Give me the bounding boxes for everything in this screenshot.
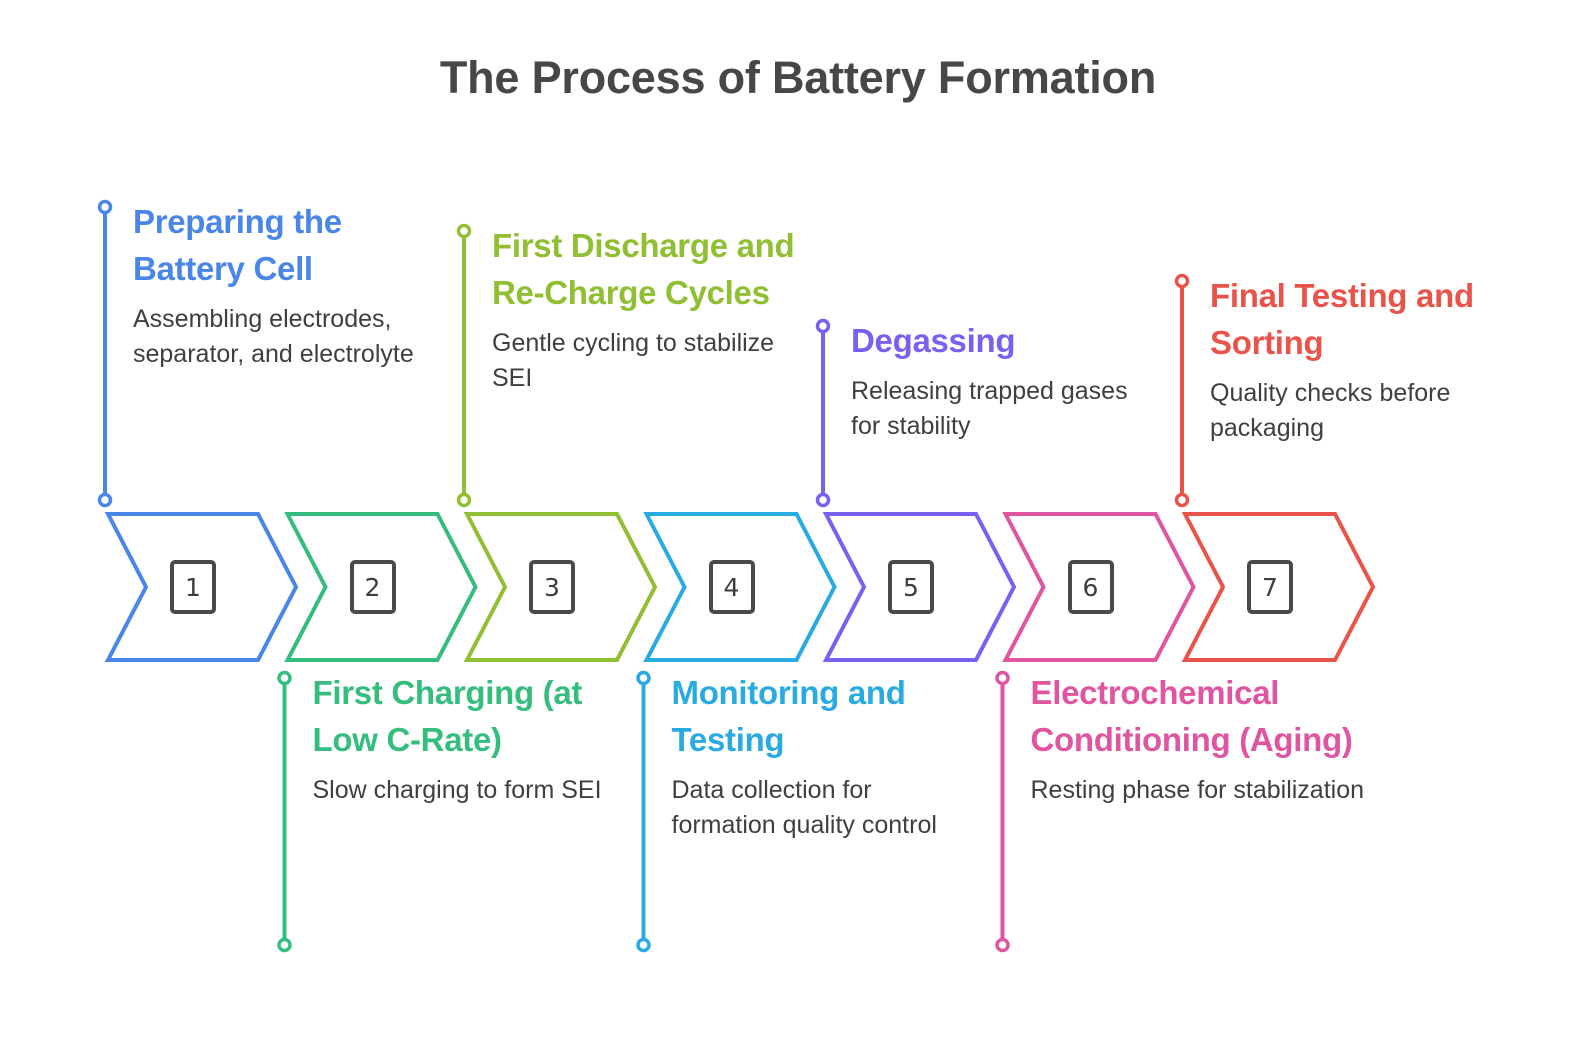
step-number-6: 6 [1083, 573, 1099, 602]
step-number-box-1: 1 [170, 560, 216, 614]
step-title-4: Monitoring and Testing [672, 670, 972, 764]
step-number-4: 4 [724, 573, 740, 602]
step-number-1: 1 [185, 573, 201, 602]
step-description-4: Data collection for formation quality co… [672, 773, 972, 843]
step-title-2: First Charging (at Low C-Rate) [313, 670, 613, 764]
step-title-1: Preparing the Battery Cell [133, 199, 423, 293]
step-number-2: 2 [365, 573, 381, 602]
step-label-2: First Charging (at Low C-Rate)Slow charg… [313, 670, 613, 808]
step-label-4: Monitoring and TestingData collection fo… [672, 670, 972, 843]
connector-endpoint-end-step-4 [638, 940, 649, 951]
step-number-box-2: 2 [350, 560, 396, 614]
step-label-3: First Discharge and Re-Charge CyclesGent… [492, 223, 802, 396]
step-description-2: Slow charging to form SEI [313, 773, 613, 808]
step-number-box-6: 6 [1068, 560, 1114, 614]
connector-endpoint-end-step-5 [818, 495, 829, 506]
chevron-arrows [0, 0, 1596, 1040]
step-title-7: Final Testing and Sorting [1210, 273, 1500, 367]
step-description-7: Quality checks before packaging [1210, 376, 1500, 446]
step-number-box-5: 5 [888, 560, 934, 614]
step-label-5: DegassingReleasing trapped gases for sta… [851, 318, 1141, 444]
connector-endpoint-end-step-3 [459, 495, 470, 506]
step-label-6: Electrochemical Conditioning (Aging)Rest… [1031, 670, 1371, 808]
step-description-6: Resting phase for stabilization [1031, 773, 1371, 808]
step-description-5: Releasing trapped gases for stability [851, 374, 1141, 444]
step-number-box-3: 3 [529, 560, 575, 614]
step-number-3: 3 [544, 573, 560, 602]
step-number-7: 7 [1262, 573, 1278, 602]
step-label-1: Preparing the Battery CellAssembling ele… [133, 199, 423, 372]
step-description-3: Gentle cycling to stabilize SEI [492, 326, 802, 396]
step-title-3: First Discharge and Re-Charge Cycles [492, 223, 802, 317]
connector-endpoint-end-step-7 [1177, 495, 1188, 506]
step-label-7: Final Testing and SortingQuality checks … [1210, 273, 1500, 446]
step-number-box-7: 7 [1247, 560, 1293, 614]
connector-endpoint-start-step-7 [1177, 276, 1188, 287]
page-title: The Process of Battery Formation [0, 52, 1596, 104]
step-number-box-4: 4 [709, 560, 755, 614]
step-title-6: Electrochemical Conditioning (Aging) [1031, 670, 1371, 764]
step-title-5: Degassing [851, 318, 1141, 365]
connector-endpoint-end-step-2 [279, 940, 290, 951]
infographic-canvas: The Process of Battery Formation 1234567… [0, 0, 1596, 1040]
connector-endpoint-start-step-1 [100, 202, 111, 213]
connector-endpoint-start-step-5 [818, 321, 829, 332]
connector-endpoint-start-step-3 [459, 226, 470, 237]
step-number-5: 5 [903, 573, 919, 602]
connector-endpoint-end-step-1 [100, 495, 111, 506]
connector-endpoint-start-step-2 [279, 673, 290, 684]
connector-endpoint-end-step-6 [997, 940, 1008, 951]
connector-endpoint-start-step-4 [638, 673, 649, 684]
connector-endpoint-start-step-6 [997, 673, 1008, 684]
step-description-1: Assembling electrodes, separator, and el… [133, 302, 423, 372]
connector-lines [0, 0, 1596, 1040]
